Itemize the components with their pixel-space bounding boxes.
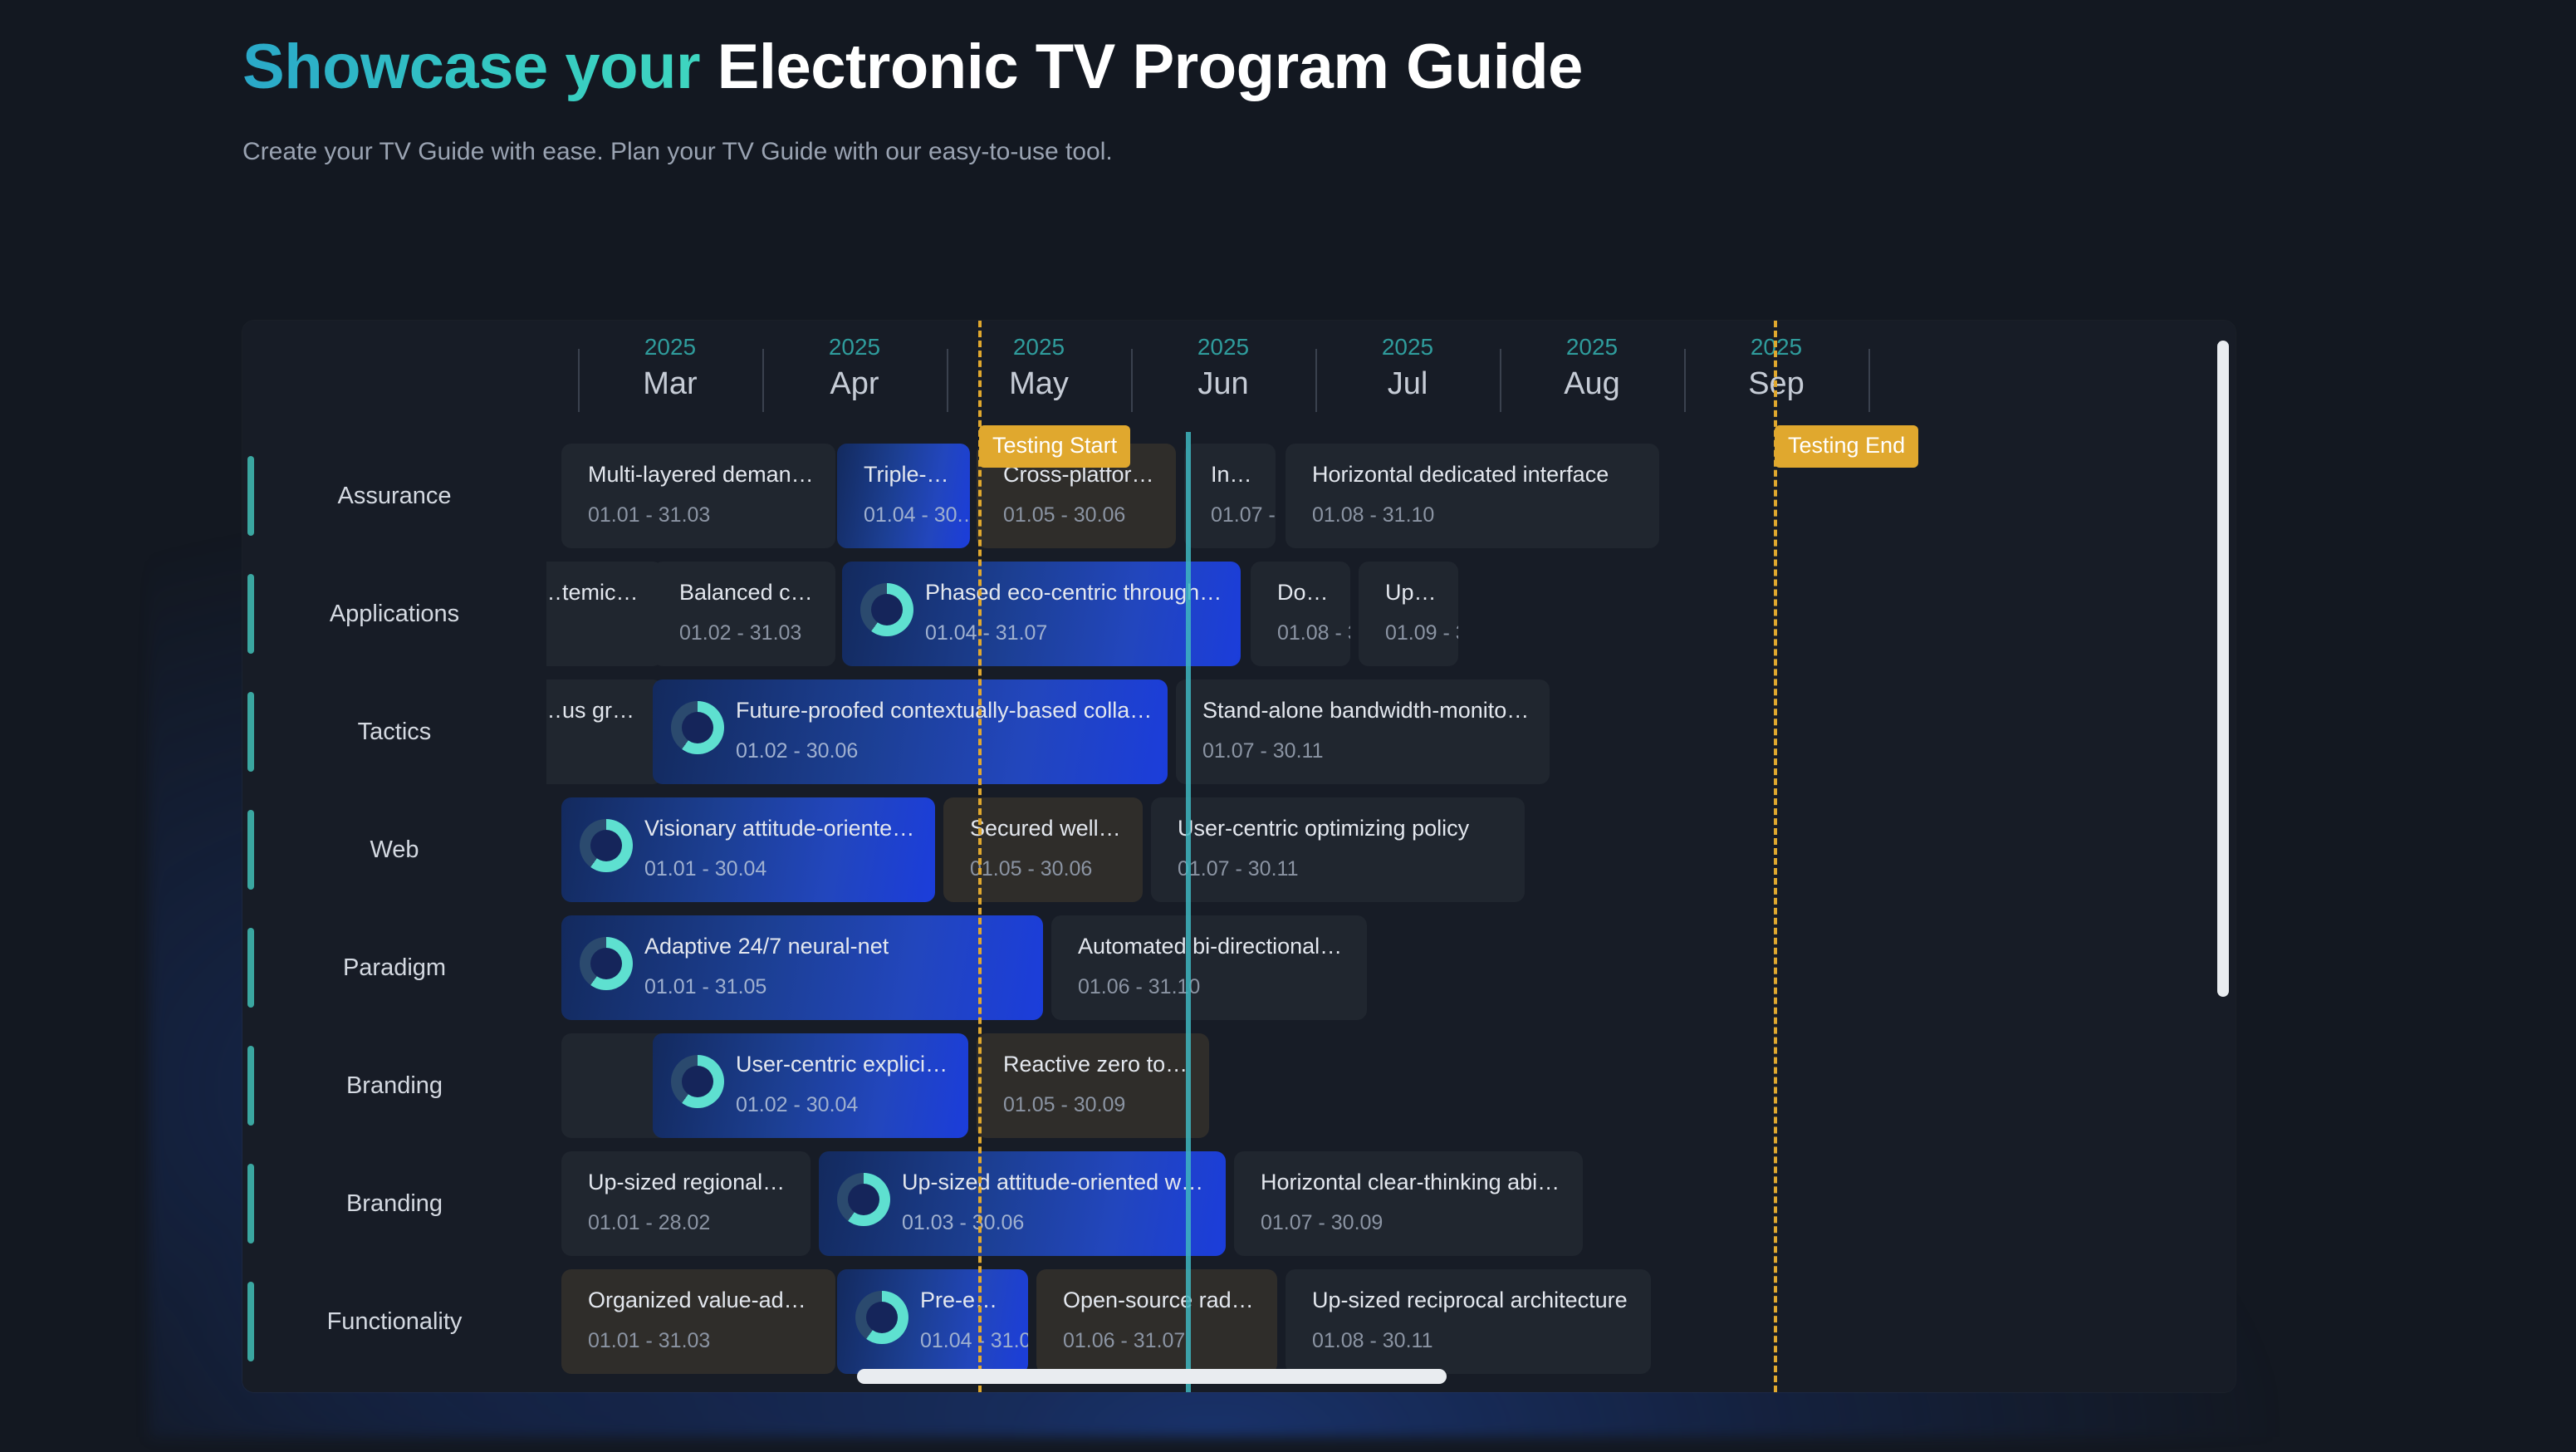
today-marker-line bbox=[1186, 432, 1191, 1392]
gantt-row: Multi-layered demand-driven para…01.01 -… bbox=[546, 437, 2236, 555]
row-label-text: Branding bbox=[346, 1072, 443, 1100]
gantt-task-bar[interactable]: Down-siz…01.08 - 31.08 bbox=[1251, 562, 1350, 666]
gantt-task-bar[interactable]: User-centric explicit moderator01.02 - 3… bbox=[653, 1033, 968, 1138]
task-title: Up-sized … bbox=[1385, 580, 1438, 606]
timeline-month-jul: 2025Jul bbox=[1315, 321, 1500, 432]
row-label-applications-1[interactable]: Applications bbox=[242, 555, 546, 673]
row-label-assurance-0[interactable]: Assurance bbox=[242, 437, 546, 555]
row-label-paradigm-4[interactable]: Paradigm bbox=[242, 909, 546, 1027]
gantt-task-bar[interactable]: Up-sized reciprocal architecture01.08 - … bbox=[1286, 1269, 1651, 1374]
gantt-task-bar[interactable]: Adaptive 24/7 neural-net01.01 - 31.05 bbox=[561, 915, 1043, 1020]
gantt-task-bar[interactable]: Reactive zero tolerance function01.05 - … bbox=[977, 1033, 1209, 1138]
gantt-row: Visionary attitude-oriented Graphical Us… bbox=[546, 791, 2236, 909]
task-date-range: 01.07 - 31.07 bbox=[1211, 503, 1276, 527]
task-title: Secured well-modulated infra… bbox=[970, 816, 1123, 841]
month-separator bbox=[762, 349, 764, 412]
month-year-label: 2025 bbox=[1013, 332, 1065, 361]
row-label-column: AssuranceApplicationsTacticsWebParadigmB… bbox=[242, 321, 546, 1392]
row-label-text: Functionality bbox=[327, 1308, 463, 1336]
task-date-range: 01.02 - 31.03 bbox=[679, 621, 801, 645]
gantt-task-bar[interactable]: Triple-buf…01.04 - 30.… bbox=[837, 444, 970, 548]
task-title: Pre-emptive dedicat… bbox=[920, 1288, 1013, 1313]
task-title: Visionary attitude-oriented Graphical Us… bbox=[644, 816, 920, 841]
task-date-range: 01.08 - 30.11 bbox=[1312, 1329, 1432, 1353]
gantt-row: Up-sized regional instructio…01.01 - 28.… bbox=[546, 1145, 2236, 1263]
month-separator bbox=[947, 349, 948, 412]
row-label-text: Applications bbox=[330, 601, 459, 628]
row-label-text: Web bbox=[370, 836, 419, 864]
progress-donut-icon bbox=[671, 701, 724, 754]
row-label-text: Assurance bbox=[337, 483, 451, 510]
task-title: Open-source radical ability bbox=[1063, 1288, 1257, 1313]
row-label-branding-5[interactable]: Branding bbox=[242, 1027, 546, 1145]
gantt-task-bar[interactable]: Secured well-modulated infra…01.05 - 30.… bbox=[943, 797, 1143, 902]
row-label-text: Branding bbox=[346, 1190, 443, 1218]
task-title: User-centric optimizing policy bbox=[1178, 816, 1469, 841]
gantt-task-bar[interactable]: Horizontal dedicated interface01.08 - 31… bbox=[1286, 444, 1659, 548]
task-title: Organized value-added access bbox=[588, 1288, 815, 1313]
task-date-range: 01.01 - 31.03 bbox=[588, 1329, 710, 1353]
task-title: Triple-buf… bbox=[864, 462, 950, 488]
gantt-task-bar[interactable]: Phased eco-centric throughput01.04 - 31.… bbox=[842, 562, 1241, 666]
gantt-task-bar[interactable]: Balanced composite standa…01.02 - 31.03 bbox=[653, 562, 835, 666]
progress-donut-icon bbox=[837, 1173, 890, 1226]
month-name-label: Aug bbox=[1564, 366, 1620, 402]
gantt-task-bar[interactable]: Horizontal clear-thinking ability01.07 -… bbox=[1234, 1151, 1583, 1256]
task-title: Up-sized reciprocal architecture bbox=[1312, 1288, 1628, 1313]
row-label-web-3[interactable]: Web bbox=[242, 791, 546, 909]
row-accent-tick bbox=[247, 928, 254, 1008]
vertical-scrollbar-thumb[interactable] bbox=[2217, 341, 2229, 997]
task-date-range: 01.05 - 30.06 bbox=[970, 857, 1092, 881]
page-subtitle: Create your TV Guide with ease. Plan you… bbox=[242, 138, 2152, 166]
row-label-text: Paradigm bbox=[343, 954, 446, 982]
task-date-range: 01.01 - 31.03 bbox=[588, 503, 710, 527]
gantt-task-bar[interactable]: Pre-emptive dedicat…01.04 - 31.05 bbox=[837, 1269, 1028, 1374]
row-accent-tick bbox=[247, 1282, 254, 1361]
month-name-label: Mar bbox=[643, 366, 697, 402]
task-title: …temic attitude bbox=[540, 580, 643, 606]
timeline-month-apr: 2025Apr bbox=[762, 321, 947, 432]
timeline-month-may: 2025May bbox=[947, 321, 1131, 432]
timeline-month-mar: 2025Mar bbox=[578, 321, 762, 432]
progress-donut-icon bbox=[580, 937, 633, 990]
task-title: …us group bbox=[540, 698, 643, 724]
task-date-range: 01.08 - 31.08 bbox=[1277, 621, 1350, 645]
gantt-task-bar[interactable]: Stand-alone bandwidth-monitored local ar… bbox=[1176, 679, 1550, 784]
task-date-range: 01.07 - 30.11 bbox=[1178, 857, 1298, 881]
task-date-range: 01.04 - 31.07 bbox=[925, 621, 1047, 645]
month-name-label: Jul bbox=[1388, 366, 1428, 402]
month-separator bbox=[1868, 349, 1870, 412]
task-date-range: 01.05 - 30.09 bbox=[1003, 1093, 1125, 1117]
hero-section: Showcase your Electronic TV Program Guid… bbox=[242, 33, 2152, 166]
month-year-label: 2025 bbox=[829, 332, 880, 361]
gantt-row: Organized value-added access01.01 - 31.0… bbox=[546, 1263, 2236, 1381]
task-date-range: 01.06 - 31.10 bbox=[1078, 975, 1200, 999]
row-accent-tick bbox=[247, 692, 254, 772]
month-name-label: May bbox=[1009, 366, 1069, 402]
row-accent-tick bbox=[247, 574, 254, 654]
timeline-month-jun: 2025Jun bbox=[1131, 321, 1315, 432]
gantt-task-bar[interactable]: Automated bi-directional leverage01.06 -… bbox=[1051, 915, 1367, 1020]
testing-marker-line-1 bbox=[1774, 321, 1777, 1392]
task-date-range: 01.06 - 31.07 bbox=[1063, 1329, 1185, 1353]
task-date-range: 01.09 - 30.… bbox=[1385, 621, 1458, 645]
month-year-label: 2025 bbox=[644, 332, 696, 361]
month-name-label: Jun bbox=[1197, 366, 1248, 402]
month-year-label: 2025 bbox=[1197, 332, 1249, 361]
testing-marker-flag-1[interactable]: Testing End bbox=[1775, 425, 1918, 468]
page-title-rest: Electronic TV Program Guide bbox=[700, 32, 1583, 102]
row-accent-tick bbox=[247, 810, 254, 890]
task-date-range: 01.01 - 31.05 bbox=[644, 975, 766, 999]
task-date-range: 01.03 - 30.06 bbox=[902, 1211, 1024, 1235]
gantt-task-bar[interactable]: Intuitive …01.07 - 31.07 bbox=[1184, 444, 1276, 548]
row-label-functionality-7[interactable]: Functionality bbox=[242, 1263, 546, 1381]
page-root: Showcase your Electronic TV Program Guid… bbox=[0, 0, 2576, 1452]
task-date-range: 01.07 - 30.11 bbox=[1202, 739, 1323, 763]
task-date-range: 01.02 - 30.06 bbox=[736, 739, 858, 763]
task-title: Automated bi-directional leverage bbox=[1078, 934, 1347, 959]
gantt-row: User-centric explicit moderator01.02 - 3… bbox=[546, 1027, 2236, 1145]
task-title: Multi-layered demand-driven para… bbox=[588, 462, 815, 488]
testing-marker-line-0 bbox=[978, 321, 982, 1392]
task-date-range: 01.05 - 30.06 bbox=[1003, 503, 1125, 527]
gantt-task-bar[interactable]: Up-sized attitude-oriented website01.03 … bbox=[819, 1151, 1226, 1256]
row-accent-tick bbox=[247, 456, 254, 536]
task-title: Adaptive 24/7 neural-net bbox=[644, 934, 889, 959]
task-date-range: 01.01 - 28.02 bbox=[588, 1211, 710, 1235]
page-title: Showcase your Electronic TV Program Guid… bbox=[242, 33, 2152, 101]
month-separator bbox=[1500, 349, 1501, 412]
gantt-task-bar[interactable]: Up-sized …01.09 - 30.… bbox=[1359, 562, 1458, 666]
month-year-label: 2025 bbox=[1566, 332, 1618, 361]
gantt-panel[interactable]: 2025Jan2025Feb2025Mar2025Apr2025May2025J… bbox=[242, 321, 2236, 1392]
row-label-tactics-2[interactable]: Tactics bbox=[242, 673, 546, 791]
month-separator bbox=[1131, 349, 1133, 412]
task-title: Up-sized regional instructio… bbox=[588, 1170, 791, 1195]
task-date-range: 01.08 - 31.10 bbox=[1312, 503, 1434, 527]
progress-donut-icon bbox=[855, 1291, 908, 1344]
gantt-row: …temic attitudeBalanced composite standa… bbox=[546, 555, 2236, 673]
task-title: Horizontal dedicated interface bbox=[1312, 462, 1609, 488]
gantt-task-bar[interactable]: Future-proofed contextually-based collab… bbox=[653, 679, 1168, 784]
gantt-task-bar[interactable]: Open-source radical ability01.06 - 31.07 bbox=[1036, 1269, 1277, 1374]
row-accent-tick bbox=[247, 1046, 254, 1126]
month-separator bbox=[1315, 349, 1317, 412]
row-label-branding-6[interactable]: Branding bbox=[242, 1145, 546, 1263]
row-label-text: Tactics bbox=[358, 719, 432, 746]
task-title: Phased eco-centric throughput bbox=[925, 580, 1226, 606]
timeline-month-aug: 2025Aug bbox=[1500, 321, 1684, 432]
gantt-task-bar[interactable]: Organized value-added access01.01 - 31.0… bbox=[561, 1269, 835, 1374]
gantt-row: Adaptive 24/7 neural-net01.01 - 31.05Aut… bbox=[546, 909, 2236, 1027]
task-title: Up-sized attitude-oriented website bbox=[902, 1170, 1211, 1195]
progress-donut-icon bbox=[671, 1055, 724, 1108]
progress-donut-icon bbox=[860, 583, 913, 636]
horizontal-scrollbar-thumb[interactable] bbox=[857, 1369, 1447, 1384]
task-title: Intuitive … bbox=[1211, 462, 1256, 488]
task-date-range: 01.04 - 30.… bbox=[864, 503, 970, 527]
task-date-range: 01.01 - 30.04 bbox=[644, 857, 766, 881]
gantt-row: …us groupFuture-proofed contextually-bas… bbox=[546, 673, 2236, 791]
gantt-task-bar[interactable]: Multi-layered demand-driven para…01.01 -… bbox=[561, 444, 835, 548]
task-title: Horizontal clear-thinking ability bbox=[1261, 1170, 1563, 1195]
gantt-task-bar[interactable]: Up-sized regional instructio…01.01 - 28.… bbox=[561, 1151, 811, 1256]
page-title-accent: Showcase your bbox=[242, 32, 700, 102]
task-date-range: 01.07 - 30.09 bbox=[1261, 1211, 1383, 1235]
gantt-task-bar[interactable]: User-centric optimizing policy01.07 - 30… bbox=[1151, 797, 1525, 902]
testing-marker-flag-0[interactable]: Testing Start bbox=[979, 425, 1130, 468]
month-separator bbox=[578, 349, 580, 412]
task-title: Future-proofed contextually-based collab… bbox=[736, 698, 1153, 724]
task-title: Balanced composite standa… bbox=[679, 580, 815, 606]
progress-donut-icon bbox=[580, 819, 633, 872]
task-date-range: 01.02 - 30.04 bbox=[736, 1093, 858, 1117]
task-title: Stand-alone bandwidth-monitored local ar… bbox=[1202, 698, 1530, 724]
month-separator bbox=[1684, 349, 1686, 412]
gantt-task-bar[interactable]: Visionary attitude-oriented Graphical Us… bbox=[561, 797, 935, 902]
task-title: Reactive zero tolerance function bbox=[1003, 1052, 1189, 1077]
task-title: User-centric explicit moderator bbox=[736, 1052, 953, 1077]
task-title: Down-siz… bbox=[1277, 580, 1330, 606]
month-name-label: Apr bbox=[830, 366, 879, 402]
row-accent-tick bbox=[247, 1164, 254, 1244]
task-date-range: 01.04 - 31.05 bbox=[920, 1329, 1028, 1353]
month-year-label: 2025 bbox=[1382, 332, 1433, 361]
